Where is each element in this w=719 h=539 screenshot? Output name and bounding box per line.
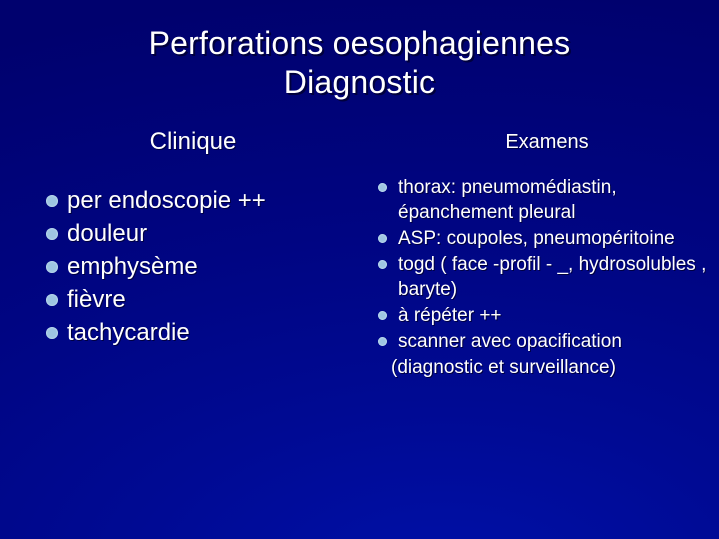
slide-title: Perforations oesophagiennes Diagnostic <box>0 24 719 102</box>
list-item-label: tachycardie <box>67 319 190 346</box>
list-item-label: togd ( face -profil - _, hydrosolubles ,… <box>398 254 706 300</box>
bullet-list-clinique: per endoscopie ++ douleur emphysème fièv… <box>18 184 368 349</box>
list-item-label: scanner avec opacification <box>398 331 622 352</box>
list-item-label: emphysème <box>67 253 198 280</box>
list-item: ASP: coupoles, pneumopéritoine <box>372 226 712 251</box>
list-item: fièvre <box>18 283 368 316</box>
bullet-dot-icon <box>378 337 387 346</box>
heading-examens: Examens <box>372 130 712 154</box>
bullet-dot-icon <box>378 311 387 320</box>
list-item: tachycardie <box>18 316 368 349</box>
bullet-dot-icon <box>46 294 58 306</box>
list-item: togd ( face -profil - _, hydrosolubles ,… <box>372 252 712 302</box>
list-item-label: douleur <box>67 220 147 247</box>
bullet-dot-icon <box>46 327 58 339</box>
list-item-label: à répéter ++ <box>398 305 502 326</box>
list-item-label: fièvre <box>67 286 126 313</box>
list-item: douleur <box>18 217 368 250</box>
list-item: thorax: pneumomédiastin, épanchement ple… <box>372 175 712 225</box>
continuation-line: (diagnostic et surveillance) <box>372 355 712 380</box>
heading-clinique: Clinique <box>18 128 368 156</box>
list-item-label: ASP: coupoles, pneumopéritoine <box>398 228 675 249</box>
list-item-label: thorax: pneumomédiastin, épanchement ple… <box>398 177 617 223</box>
list-item: à répéter ++ <box>372 303 712 328</box>
bullet-dot-icon <box>378 260 387 269</box>
list-item: emphysème <box>18 250 368 283</box>
list-item-label: per endoscopie ++ <box>67 187 266 214</box>
slide-canvas: Perforations oesophagiennes Diagnostic C… <box>0 0 719 539</box>
list-item: scanner avec opacification <box>372 329 712 354</box>
bullet-list-examens: thorax: pneumomédiastin, épanchement ple… <box>372 175 712 354</box>
column-clinique: Clinique per endoscopie ++ douleur emphy… <box>18 128 368 349</box>
list-item: per endoscopie ++ <box>18 184 368 217</box>
column-examens: Examens thorax: pneumomédiastin, épanche… <box>372 130 712 380</box>
title-line-1: Perforations oesophagiennes <box>0 24 719 63</box>
bullet-dot-icon <box>378 183 387 192</box>
bullet-dot-icon <box>46 195 58 207</box>
title-line-2: Diagnostic <box>0 63 719 102</box>
bullet-dot-icon <box>46 261 58 273</box>
bullet-dot-icon <box>46 228 58 240</box>
bullet-dot-icon <box>378 234 387 243</box>
